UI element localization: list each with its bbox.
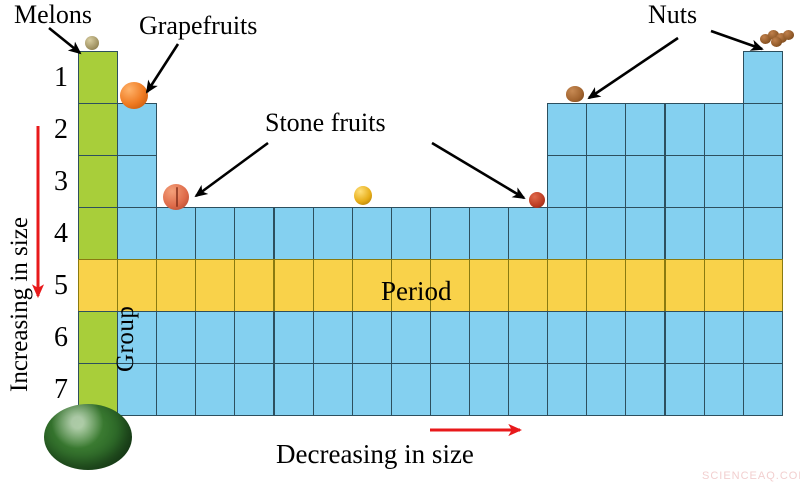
table-cell-p5-g14 [586,259,626,312]
table-cell-p6-g8 [352,311,392,364]
table-cell-p6-g12 [508,311,548,364]
table-cell-p6-g14 [586,311,626,364]
peach-icon [163,184,189,210]
period-number-6: 6 [42,322,68,354]
table-cell-p5-g4 [195,259,235,312]
table-cell-p5-g3 [156,259,196,312]
table-cell-p5-g6 [274,259,314,312]
table-cell-p4-g15 [625,207,665,260]
table-cell-p7-g11 [469,363,509,416]
table-cell-p7-g15 [625,363,665,416]
table-cell-p5-g13 [547,259,587,312]
table-cell-p7-g5 [234,363,274,416]
table-cell-p7-g14 [586,363,626,416]
table-cell-p7-g3 [156,363,196,416]
group-axis-label: Group [112,306,140,372]
table-cell-p5-g18 [743,259,783,312]
table-cell-p4-g17 [704,207,744,260]
table-cell-p6-g10 [430,311,470,364]
period-number-2: 2 [42,114,68,146]
nut-cluster-icon [760,30,794,46]
table-cell-p7-g17 [704,363,744,416]
decreasing-in-size-label: Decreasing in size [276,439,474,470]
cherry-icon [529,192,545,208]
callout-grapefruits: Grapefruits [139,11,257,41]
table-cell-p4-g16 [665,207,705,260]
period-number-7: 7 [42,374,68,406]
table-cell-p6-g3 [156,311,196,364]
callout-stone-fruits: Stone fruits [265,108,386,138]
table-cell-p6-g6 [274,311,314,364]
table-cell-p5-g5 [234,259,274,312]
increasing-in-size-label: Increasing in size [6,217,34,392]
table-cell-p2-g13 [547,103,587,156]
period-number-4: 4 [42,218,68,250]
table-cell-p3-g13 [547,155,587,208]
table-cell-p4-g1 [78,207,118,260]
table-cell-p4-g4 [195,207,235,260]
table-cell-p4-g7 [313,207,353,260]
site-watermark: SCIENCEAQ.COM [702,470,800,482]
table-cell-p7-g18 [743,363,783,416]
table-cell-p6-g18 [743,311,783,364]
table-cell-p4-g3 [156,207,196,260]
table-cell-p4-g13 [547,207,587,260]
callout-melons: Melons [14,0,92,30]
hazelnut-icon [566,86,584,102]
table-cell-p7-g7 [313,363,353,416]
table-cell-p7-g9 [391,363,431,416]
table-cell-p7-g12 [508,363,548,416]
table-cell-p3-g1 [78,155,118,208]
table-cell-p6-g7 [313,311,353,364]
table-cell-p5-g12 [508,259,548,312]
table-cell-p4-g12 [508,207,548,260]
table-cell-p7-g4 [195,363,235,416]
table-cell-p6-g15 [625,311,665,364]
table-cell-p1-g1 [78,51,118,104]
table-cell-p5-g2 [117,259,157,312]
table-cell-p2-g1 [78,103,118,156]
table-cell-p4-g14 [586,207,626,260]
table-cell-p7-g10 [430,363,470,416]
table-cell-p6-g9 [391,311,431,364]
table-cell-p3-g16 [665,155,705,208]
callout-nuts: Nuts [648,0,697,30]
table-cell-p4-g6 [274,207,314,260]
table-cell-p4-g8 [352,207,392,260]
table-cell-p7-g8 [352,363,392,416]
table-cell-p5-g7 [313,259,353,312]
table-cell-p5-g1 [78,259,118,312]
table-cell-p7-g16 [665,363,705,416]
table-cell-p5-g15 [625,259,665,312]
watermelon-icon [44,404,132,470]
table-cell-p4-g2 [117,207,157,260]
table-cell-p2-g14 [586,103,626,156]
table-cell-p3-g15 [625,155,665,208]
table-cell-p2-g2 [117,103,157,156]
table-cell-p6-g5 [234,311,274,364]
table-cell-p2-g15 [625,103,665,156]
melon-seed-icon [85,36,99,50]
table-cell-p3-g18 [743,155,783,208]
table-cell-p6-g13 [547,311,587,364]
period-number-5: 5 [42,270,68,302]
table-cell-p6-g17 [704,311,744,364]
table-cell-p4-g10 [430,207,470,260]
table-cell-p3-g17 [704,155,744,208]
table-cell-p2-g17 [704,103,744,156]
table-cell-p5-g16 [665,259,705,312]
table-cell-p3-g2 [117,155,157,208]
table-cell-p4-g5 [234,207,274,260]
table-cell-p7-g13 [547,363,587,416]
table-cell-p6-g4 [195,311,235,364]
table-cell-p4-g18 [743,207,783,260]
table-cell-p3-g14 [586,155,626,208]
table-cell-p2-g18 [743,103,783,156]
table-cell-p6-g16 [665,311,705,364]
table-cell-p5-g17 [704,259,744,312]
table-cell-p4-g11 [469,207,509,260]
table-cell-p2-g16 [665,103,705,156]
table-cell-p6-g11 [469,311,509,364]
grapefruit-icon [120,82,148,109]
table-cell-p5-g11 [469,259,509,312]
table-cell-p7-g6 [274,363,314,416]
period-number-1: 1 [42,62,68,94]
table-cell-p1-g18 [743,51,783,104]
figure-canvas: 1234567 Group Period Increasing in size … [0,0,800,487]
period-number-3: 3 [42,166,68,198]
period-axis-label: Period [381,276,452,307]
plum-icon [354,186,372,205]
table-cell-p4-g9 [391,207,431,260]
